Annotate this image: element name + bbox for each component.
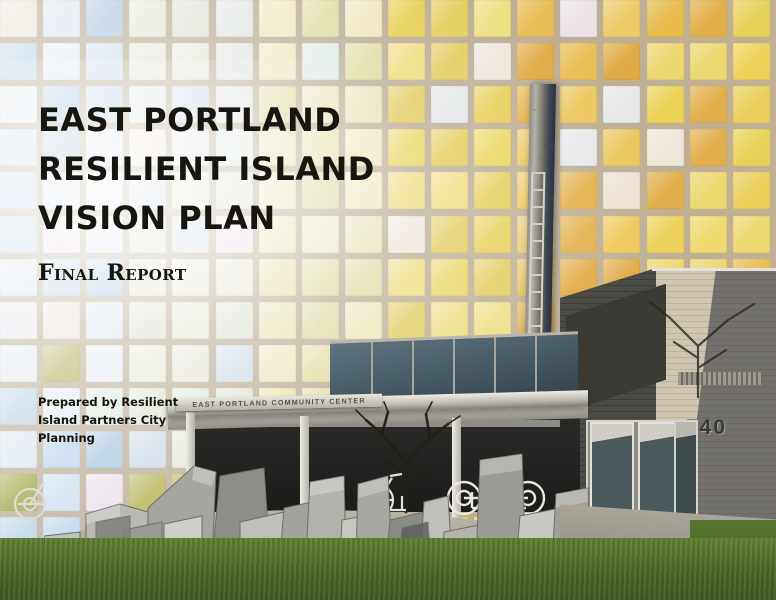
mosaic-tile — [0, 216, 37, 253]
mosaic-tile — [733, 0, 770, 37]
mosaic-tile — [0, 129, 37, 166]
mosaic-tile — [345, 0, 382, 37]
mosaic-tile — [43, 0, 80, 37]
mosaic-tile — [129, 0, 166, 37]
mosaic-tile — [302, 0, 339, 37]
window-mullion — [453, 339, 455, 395]
mosaic-tile — [388, 0, 425, 37]
mosaic-tile — [647, 0, 684, 37]
bare-tree-icon — [628, 288, 776, 398]
window-mullion — [371, 342, 373, 398]
ladder-rung — [529, 308, 543, 310]
report-cover: 740 EAST PORTLAND COMMUNITY CENTER — [0, 0, 776, 600]
mosaic-tile — [560, 216, 597, 253]
mosaic-tile — [172, 302, 209, 339]
mosaic-tile — [647, 43, 684, 80]
mosaic-tile — [43, 345, 80, 382]
mosaic-tile — [474, 216, 511, 253]
ladder-rung — [531, 206, 545, 208]
mosaic-tile — [474, 43, 511, 80]
mosaic-tile — [86, 302, 123, 339]
mosaic-tile — [259, 302, 296, 339]
mosaic-tile — [733, 172, 770, 209]
mosaic-tile — [431, 43, 468, 80]
mosaic-tile — [647, 216, 684, 253]
mosaic-tile — [560, 43, 597, 80]
mosaic-tile — [86, 43, 123, 80]
mosaic-tile — [43, 302, 80, 339]
mosaic-tile — [690, 0, 727, 37]
tower-cap — [528, 84, 556, 170]
mosaic-tile — [733, 43, 770, 80]
mosaic-tile — [0, 345, 37, 382]
mosaic-tile — [603, 172, 640, 209]
mosaic-tile — [603, 216, 640, 253]
mosaic-tile — [560, 0, 597, 37]
mosaic-tile — [0, 43, 37, 80]
building-sign-text: EAST PORTLAND COMMUNITY CENTER — [192, 396, 365, 409]
mosaic-tile — [0, 259, 37, 296]
mosaic-tile — [129, 302, 166, 339]
mosaic-tile — [0, 302, 37, 339]
mosaic-tile — [259, 0, 296, 37]
mosaic-tile — [647, 129, 684, 166]
mosaic-tile — [431, 302, 468, 339]
title-line-1: EAST PORTLAND — [38, 96, 438, 145]
ladder-rung — [531, 189, 545, 191]
title-block: EAST PORTLAND RESILIENT ISLAND VISION PL… — [38, 96, 438, 286]
mosaic-tile — [603, 86, 640, 123]
clerestory-window-band — [330, 331, 578, 400]
window-mullion — [412, 341, 414, 397]
mosaic-tile — [474, 259, 511, 296]
mosaic-tile — [560, 129, 597, 166]
mosaic-tile — [345, 43, 382, 80]
mosaic-tile — [603, 0, 640, 37]
mosaic-tile — [733, 129, 770, 166]
roof-edge — [652, 268, 776, 271]
mosaic-tile — [603, 43, 640, 80]
mosaic-tile — [690, 43, 727, 80]
mosaic-tile — [690, 129, 727, 166]
mosaic-tile — [302, 302, 339, 339]
window-mullion — [535, 336, 537, 392]
mosaic-tile — [603, 129, 640, 166]
ladder-rung — [529, 274, 543, 276]
mosaic-tile — [0, 0, 37, 37]
ladder-rung — [528, 325, 542, 327]
mosaic-tile — [517, 43, 554, 80]
mosaic-tile — [86, 0, 123, 37]
mosaic-tile — [129, 345, 166, 382]
title-line-3: VISION PLAN — [38, 194, 438, 243]
mosaic-tile — [345, 302, 382, 339]
mosaic-tile — [388, 43, 425, 80]
mosaic-tile — [474, 0, 511, 37]
ladder-rung — [529, 291, 543, 293]
ladder-rung — [531, 172, 545, 174]
mosaic-tile — [474, 172, 511, 209]
mosaic-tile — [474, 86, 511, 123]
mosaic-tile — [302, 43, 339, 80]
mosaic-tile — [86, 345, 123, 382]
mosaic-tile — [733, 86, 770, 123]
mosaic-tile — [216, 302, 253, 339]
subtitle: Final Report — [38, 260, 438, 286]
front-lawn — [0, 538, 776, 600]
mosaic-tile — [259, 43, 296, 80]
mosaic-tile — [690, 86, 727, 123]
mosaic-tile — [0, 431, 37, 468]
title-line-2: RESILIENT ISLAND — [38, 145, 438, 194]
mosaic-tile — [172, 345, 209, 382]
mosaic-tile — [172, 43, 209, 80]
mosaic-tile — [216, 0, 253, 37]
mosaic-tile — [560, 86, 597, 123]
mosaic-tile — [43, 43, 80, 80]
mosaic-tile — [560, 172, 597, 209]
ladder-rung — [530, 223, 544, 225]
mosaic-tile — [216, 43, 253, 80]
ladder-rung — [530, 257, 544, 259]
mosaic-tile — [517, 0, 554, 37]
mosaic-tile — [216, 345, 253, 382]
mosaic-tile — [431, 0, 468, 37]
mosaic-tile — [0, 172, 37, 209]
mosaic-tile — [647, 172, 684, 209]
mosaic-tile — [129, 43, 166, 80]
mosaic-tile — [647, 86, 684, 123]
mosaic-tile — [172, 0, 209, 37]
mosaic-tile — [0, 86, 37, 123]
mosaic-tile — [388, 302, 425, 339]
window-mullion — [494, 337, 496, 393]
mosaic-tile — [0, 388, 37, 425]
mosaic-tile — [690, 216, 727, 253]
prepared-by-credit: Prepared by Resilient Island Partners Ci… — [38, 393, 188, 447]
mosaic-tile — [474, 129, 511, 166]
mosaic-tile — [690, 172, 727, 209]
ladder-rung — [530, 240, 544, 242]
mosaic-tile — [733, 216, 770, 253]
mosaic-tile — [259, 345, 296, 382]
